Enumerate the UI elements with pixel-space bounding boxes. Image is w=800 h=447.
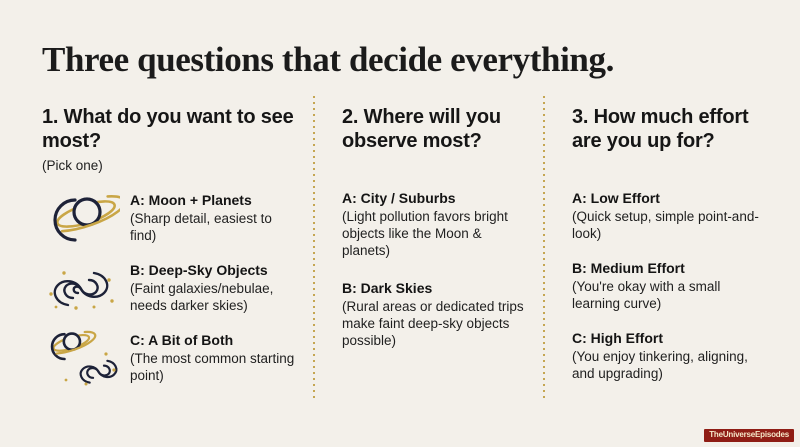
- option-3b-desc: (You're okay with a small learning curve…: [572, 278, 772, 313]
- option-row-2a[interactable]: A: City / Suburbs (Light pollution favor…: [342, 190, 532, 260]
- option-3b-title: B: Medium Effort: [572, 260, 772, 277]
- option-2b-title: B: Dark Skies: [342, 280, 532, 297]
- option-1c-text: C: A Bit of Both (The most common starti…: [130, 330, 300, 384]
- option-row-3a[interactable]: A: Low Effort (Quick setup, simple point…: [572, 190, 772, 242]
- option-2b-desc: (Rural areas or dedicated trips make fai…: [342, 298, 532, 350]
- column-2-heading: 2. Where will you observe most?: [342, 105, 532, 154]
- option-3c-title: C: High Effort: [572, 330, 772, 347]
- option-row-2b[interactable]: B: Dark Skies (Rural areas or dedicated …: [342, 280, 532, 350]
- column-1: 1. What do you want to see most? (Pick o…: [42, 105, 300, 175]
- moon-planet-galaxy-icon: [42, 330, 120, 388]
- option-row-1a[interactable]: A: Moon + Planets (Sharp detail, easiest…: [42, 190, 300, 248]
- option-1c-desc: (The most common starting point): [130, 350, 300, 385]
- option-1b-desc: (Faint galaxies/nebulae, needs darker sk…: [130, 280, 300, 315]
- slide-canvas: Three questions that decide everything. …: [0, 0, 800, 447]
- option-3c-desc: (You enjoy tinkering, aligning, and upgr…: [572, 348, 772, 383]
- option-1c-title: C: A Bit of Both: [130, 332, 300, 349]
- option-1a-title: A: Moon + Planets: [130, 192, 300, 209]
- galaxy-icon: [42, 260, 120, 318]
- option-row-3b[interactable]: B: Medium Effort (You're okay with a sma…: [572, 260, 772, 312]
- column-3: 3. How much effort are you up for? A: Lo…: [572, 105, 772, 154]
- column-1-heading: 1. What do you want to see most?: [42, 105, 300, 154]
- column-1-subheading: (Pick one): [42, 158, 300, 175]
- option-1a-desc: (Sharp detail, easiest to find): [130, 210, 300, 245]
- column-2: 2. Where will you observe most? A: City …: [342, 105, 532, 154]
- option-2a-desc: (Light pollution favors bright objects l…: [342, 208, 532, 260]
- option-row-1b[interactable]: B: Deep-Sky Objects (Faint galaxies/nebu…: [42, 260, 300, 318]
- option-3a-desc: (Quick setup, simple point-and-look): [572, 208, 772, 243]
- option-row-3c[interactable]: C: High Effort (You enjoy tinkering, ali…: [572, 330, 772, 382]
- moon-planet-icon: [42, 190, 120, 248]
- option-1b-title: B: Deep-Sky Objects: [130, 262, 300, 279]
- option-3a-title: A: Low Effort: [572, 190, 772, 207]
- column-3-heading: 3. How much effort are you up for?: [572, 105, 772, 154]
- option-1b-text: B: Deep-Sky Objects (Faint galaxies/nebu…: [130, 260, 300, 314]
- option-2a-title: A: City / Suburbs: [342, 190, 532, 207]
- option-1a-text: A: Moon + Planets (Sharp detail, easiest…: [130, 190, 300, 244]
- columns-container: 1. What do you want to see most? (Pick o…: [0, 105, 800, 405]
- watermark-badge: TheUniverseEpisodes: [704, 429, 794, 442]
- page-title: Three questions that decide everything.: [42, 40, 614, 80]
- option-row-1c[interactable]: C: A Bit of Both (The most common starti…: [42, 330, 300, 388]
